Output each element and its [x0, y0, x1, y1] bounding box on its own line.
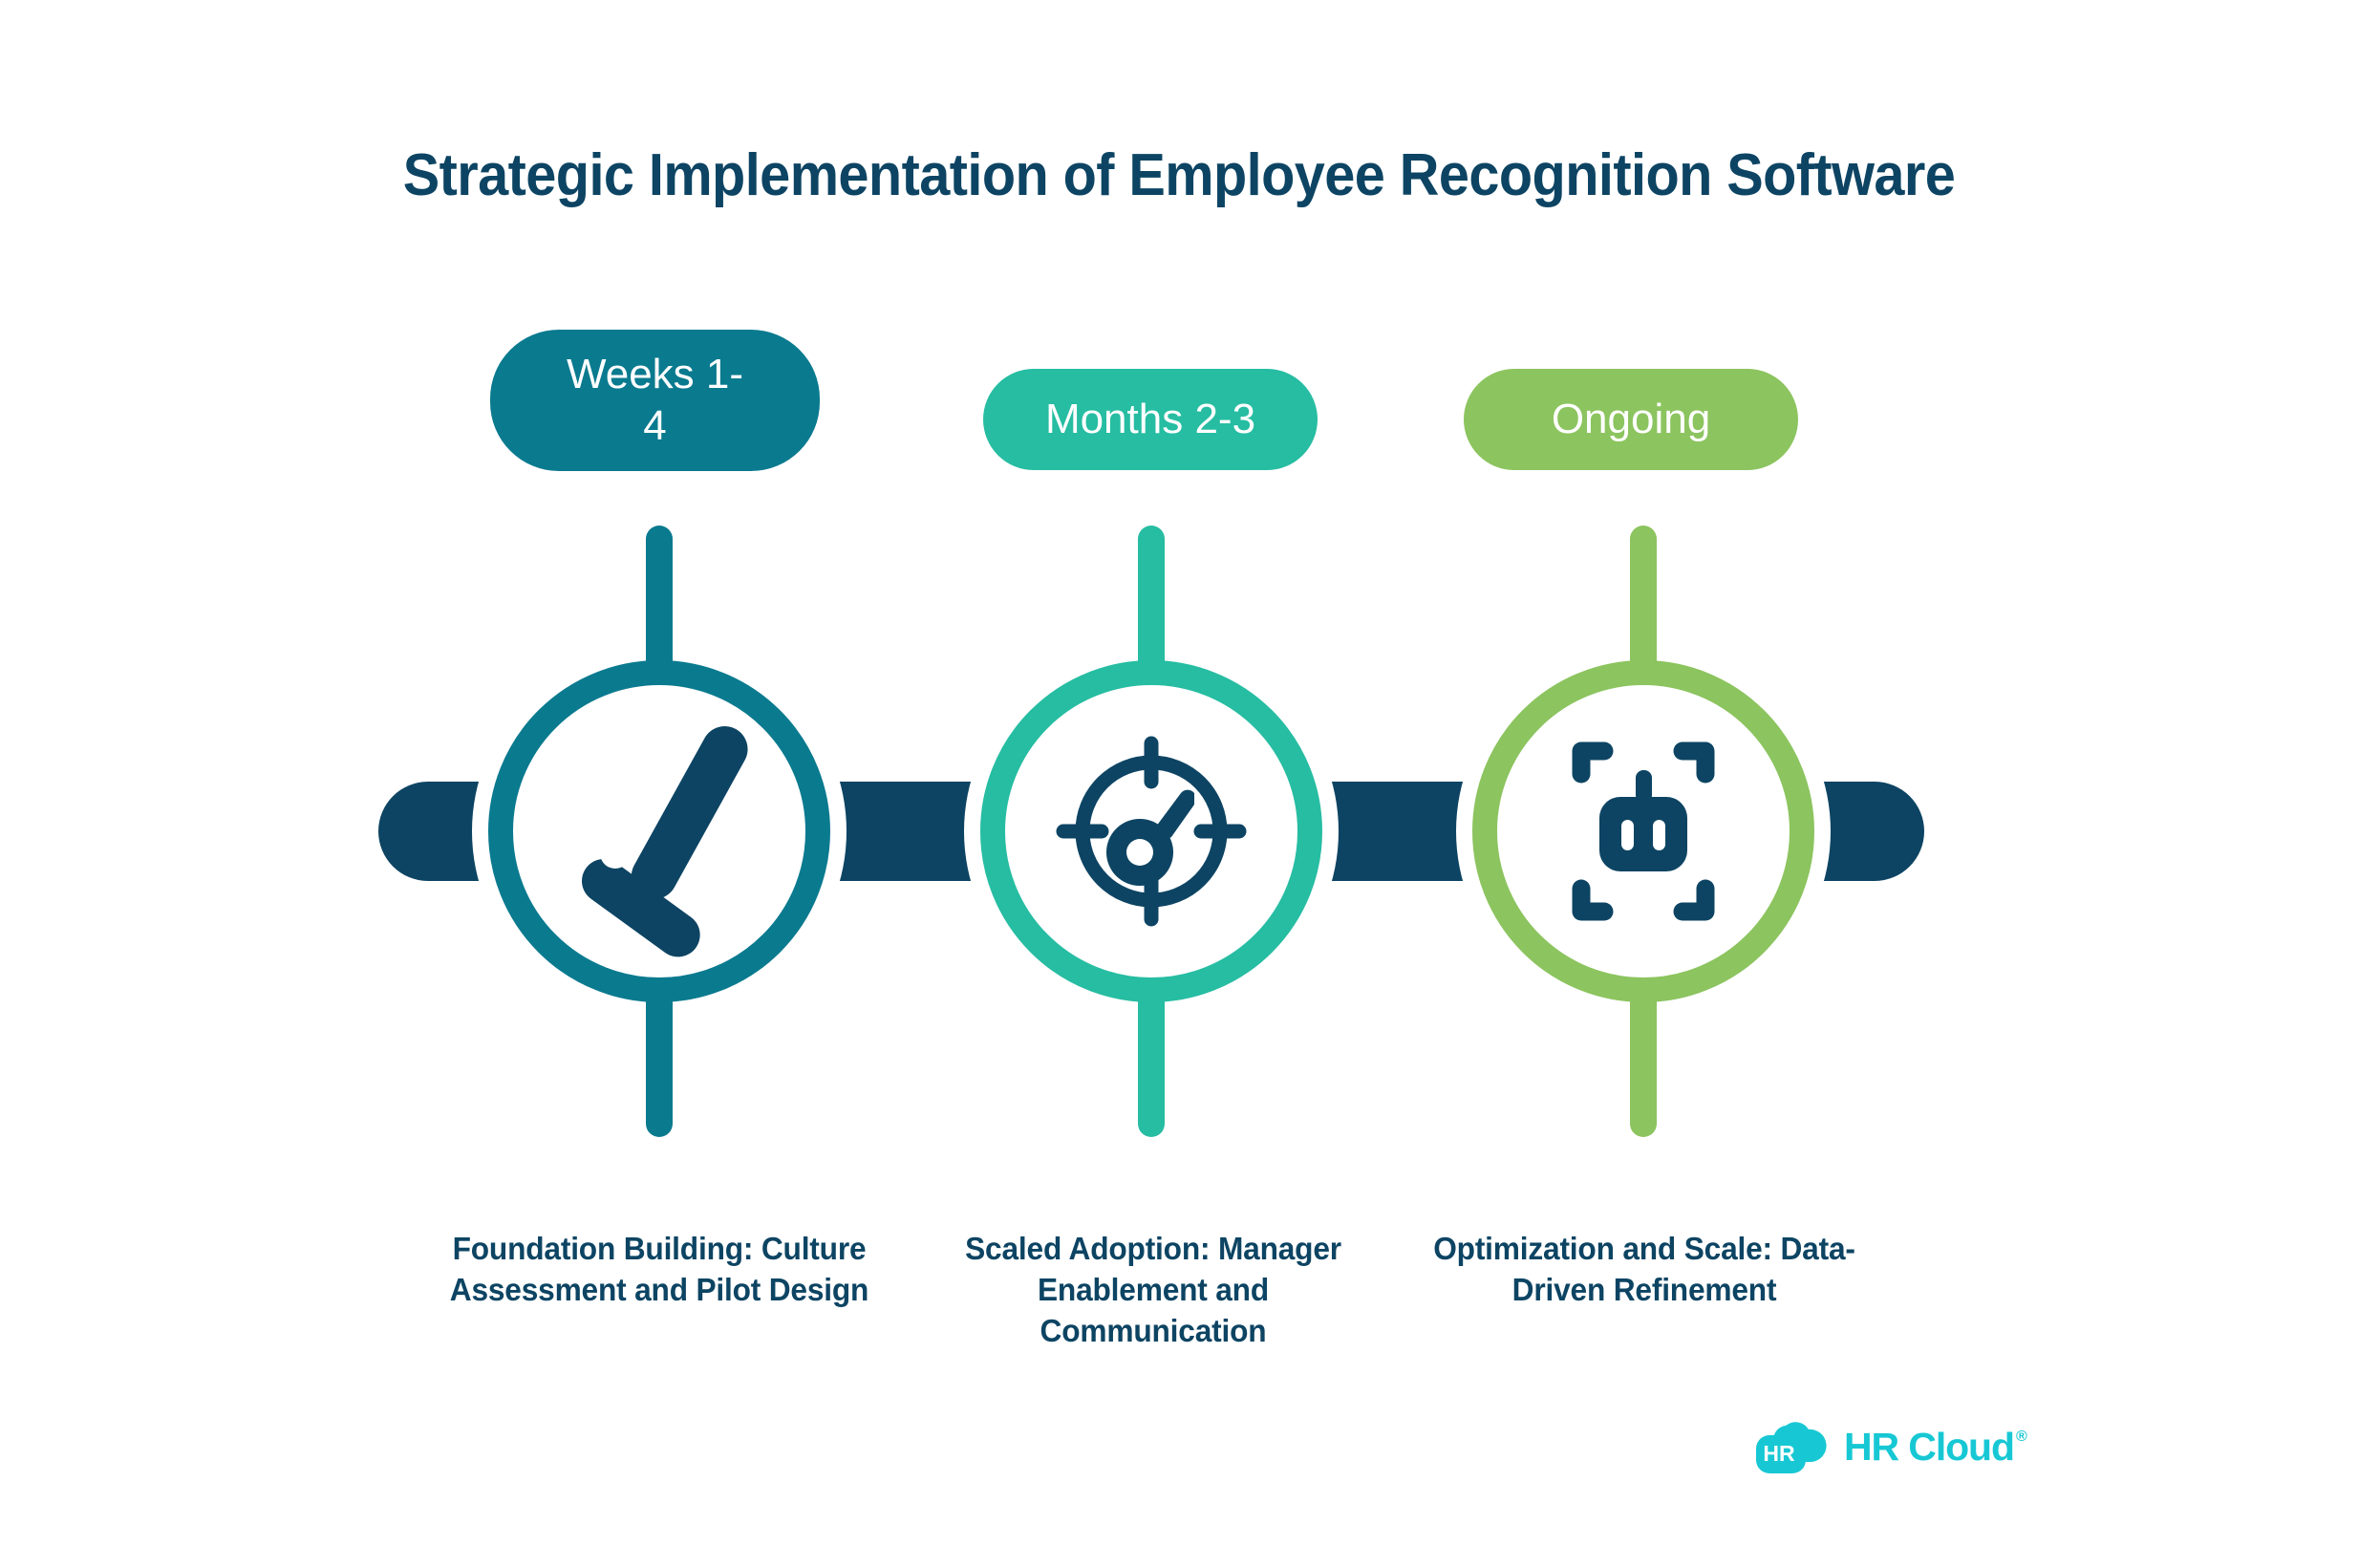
phase-pill-label: Weeks 1- 4: [567, 349, 743, 451]
timeline-node-3: [1456, 516, 1831, 1147]
phase-pill-label: Ongoing: [1552, 394, 1710, 445]
logo-wordmark-text: HR Cloud: [1844, 1428, 2014, 1467]
cloud-icon-text: HR: [1763, 1441, 1795, 1466]
timeline-node-2: [964, 516, 1339, 1147]
phase-pill-label: Months 2-3: [1045, 394, 1255, 445]
registered-trademark-symbol: ®: [2016, 1429, 2026, 1445]
logo-wordmark: HR Cloud ®: [1844, 1428, 2026, 1467]
phase-pill-weeks-1-4[interactable]: Weeks 1- 4: [490, 330, 820, 471]
phase-caption-optimization-and-scale: Optimization and Scale: Data-Driven Refi…: [1426, 1229, 1864, 1311]
phase-pill-months-2-3[interactable]: Months 2-3: [983, 369, 1318, 470]
hr-cloud-logo[interactable]: HR HR Cloud ®: [1756, 1416, 2026, 1477]
phase-pill-ongoing[interactable]: Ongoing: [1464, 369, 1798, 470]
phase-caption-foundation-building: Foundation Building: Culture Assessment …: [443, 1229, 874, 1311]
phase-caption-scaled-adoption: Scaled Adoption: Manager Enablement and …: [934, 1229, 1373, 1352]
infographic-canvas: Strategic Implementation of Employee Rec…: [0, 0, 2358, 1568]
cloud-icon: HR: [1756, 1420, 1829, 1473]
timeline-node-1: [472, 516, 847, 1147]
